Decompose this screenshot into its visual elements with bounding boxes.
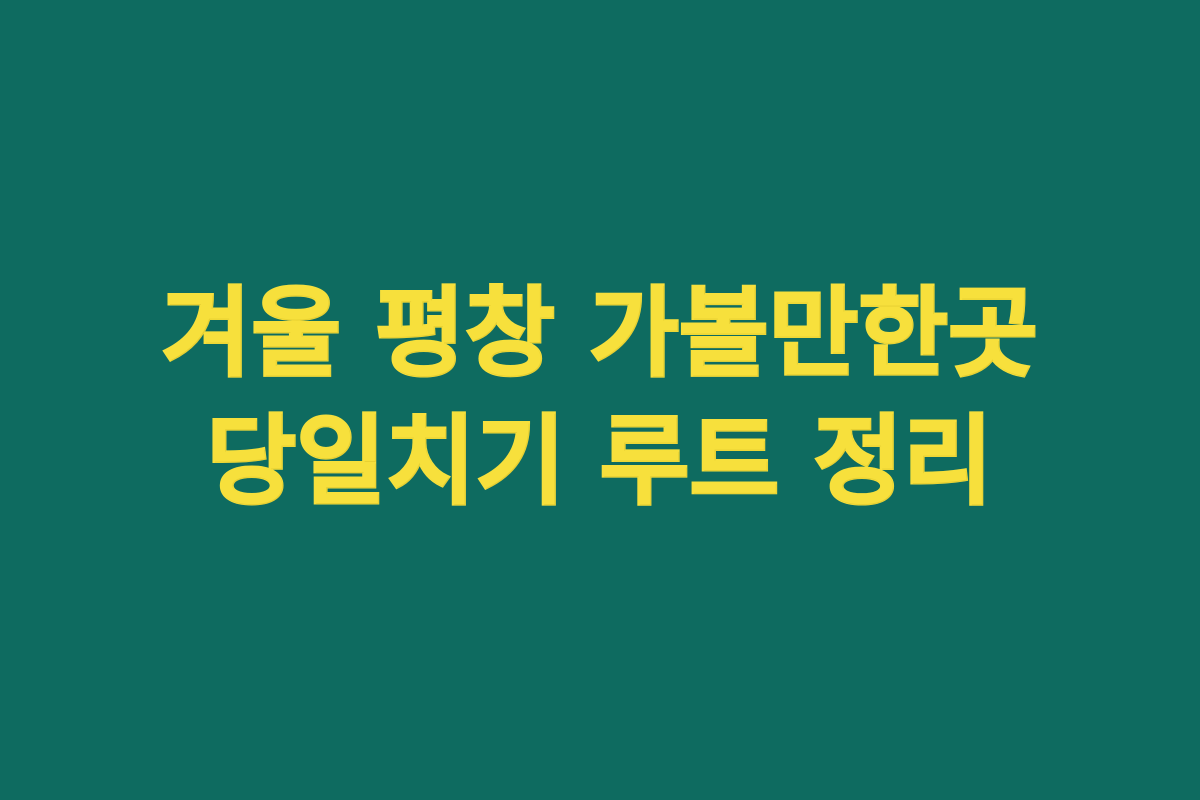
banner-canvas: 겨울 평창 가볼만한곳 당일치기 루트 정리 (0, 0, 1200, 800)
title-line-2: 당일치기 루트 정리 (207, 398, 993, 526)
title-line-1: 겨울 평창 가볼만한곳 (162, 270, 1038, 398)
title-block: 겨울 평창 가볼만한곳 당일치기 루트 정리 (0, 270, 1200, 526)
